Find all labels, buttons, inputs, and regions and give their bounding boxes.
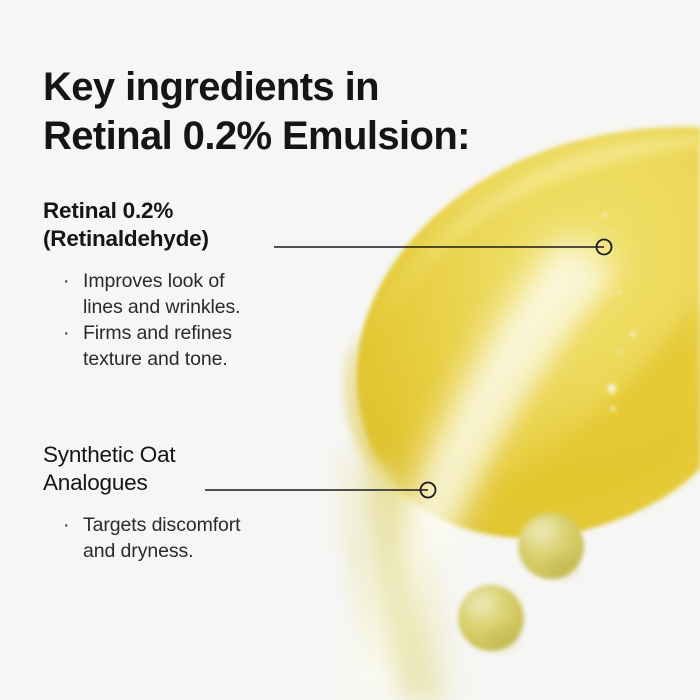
ingredient-heading-oat: Synthetic Oat Analogues — [43, 441, 241, 497]
ingredient-heading-oat-line-1: Synthetic Oat — [43, 441, 241, 469]
benefit-text: Targets discomfort and dryness. — [83, 513, 241, 564]
benefit-line-2: and dryness. — [83, 539, 241, 565]
text-content: Key ingredients in Retinal 0.2% Emulsion… — [0, 0, 700, 700]
benefit-line-1: Improves look of — [83, 269, 240, 295]
ingredient-section-oat: Synthetic Oat Analogues · Targets discom… — [43, 441, 241, 565]
benefit-line-2: texture and tone. — [83, 347, 240, 373]
ingredient-heading-retinal: Retinal 0.2% (Retinaldehyde) — [43, 197, 240, 253]
bullet-marker-icon: · — [63, 269, 69, 295]
ingredient-heading-retinal-line-1: Retinal 0.2% — [43, 197, 240, 225]
benefit-line-2: lines and wrinkles. — [83, 295, 240, 321]
benefit-line-1: Targets discomfort — [83, 513, 241, 539]
page-title: Key ingredients in Retinal 0.2% Emulsion… — [43, 63, 603, 161]
ingredient-heading-retinal-line-2: (Retinaldehyde) — [43, 225, 240, 253]
page-title-line-2: Retinal 0.2% Emulsion: — [43, 112, 603, 161]
list-item: · Firms and refines texture and tone. — [57, 321, 240, 372]
ingredient-section-retinal: Retinal 0.2% (Retinaldehyde) · Improves … — [43, 197, 240, 373]
ingredient-infographic: Key ingredients in Retinal 0.2% Emulsion… — [0, 0, 700, 700]
benefit-text: Improves look of lines and wrinkles. — [83, 269, 240, 320]
benefit-list-oat: · Targets discomfort and dryness. — [57, 513, 241, 564]
page-title-line-1: Key ingredients in — [43, 63, 603, 112]
list-item: · Improves look of lines and wrinkles. — [57, 269, 240, 320]
list-item: · Targets discomfort and dryness. — [57, 513, 241, 564]
bullet-marker-icon: · — [63, 321, 69, 347]
benefit-list-retinal: · Improves look of lines and wrinkles. ·… — [57, 269, 240, 372]
benefit-line-1: Firms and refines — [83, 321, 240, 347]
ingredient-heading-oat-line-2: Analogues — [43, 469, 241, 497]
bullet-marker-icon: · — [63, 513, 69, 539]
benefit-text: Firms and refines texture and tone. — [83, 321, 240, 372]
